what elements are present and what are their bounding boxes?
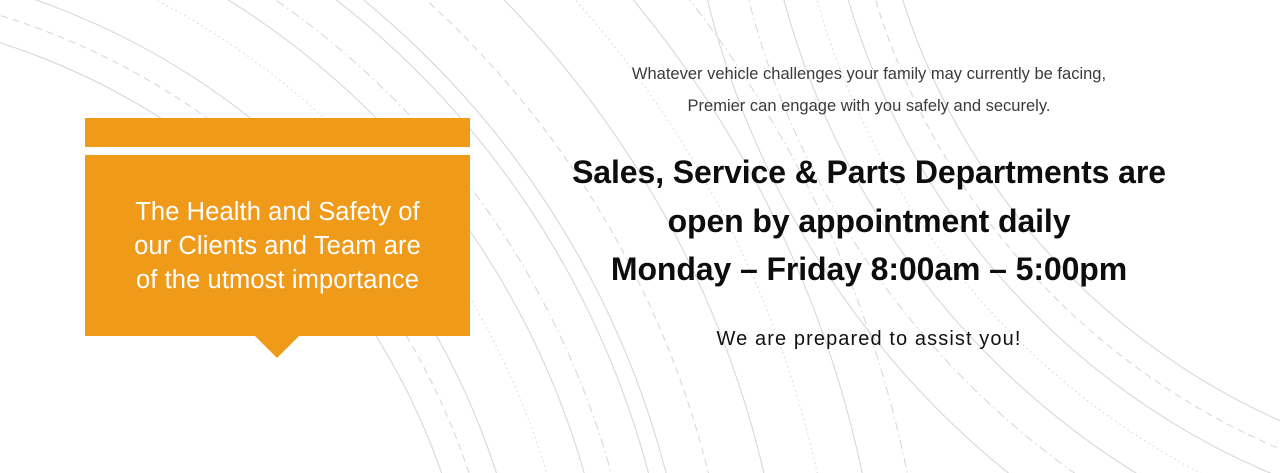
headline-line-3: Monday – Friday 8:00am – 5:00pm bbox=[565, 245, 1173, 294]
message-column: Whatever vehicle challenges your family … bbox=[565, 58, 1173, 353]
intro-line-2: Premier can engage with you safely and s… bbox=[565, 90, 1173, 122]
callout-line-3: of the utmost importance bbox=[134, 263, 421, 297]
intro-paragraph: Whatever vehicle challenges your family … bbox=[565, 58, 1173, 122]
headline-line-1: Sales, Service & Parts Departments are bbox=[565, 148, 1173, 197]
callout-speech-tail bbox=[255, 336, 299, 358]
health-safety-callout: The Health and Safety of our Clients and… bbox=[85, 118, 470, 336]
hours-headline: Sales, Service & Parts Departments are o… bbox=[565, 148, 1173, 294]
callout-divider bbox=[85, 147, 470, 155]
callout-line-2: our Clients and Team are bbox=[134, 229, 421, 263]
intro-line-1: Whatever vehicle challenges your family … bbox=[565, 58, 1173, 90]
callout-top-bar bbox=[85, 118, 470, 147]
callout-line-1: The Health and Safety of bbox=[134, 195, 421, 229]
promotional-banner: The Health and Safety of our Clients and… bbox=[0, 0, 1280, 473]
closing-statement: We are prepared to assist you! bbox=[565, 325, 1173, 353]
closing-line: We are prepared to assist you! bbox=[565, 325, 1173, 353]
headline-line-2: open by appointment daily bbox=[565, 197, 1173, 246]
callout-message: The Health and Safety of our Clients and… bbox=[122, 195, 433, 297]
callout-body: The Health and Safety of our Clients and… bbox=[85, 155, 470, 336]
